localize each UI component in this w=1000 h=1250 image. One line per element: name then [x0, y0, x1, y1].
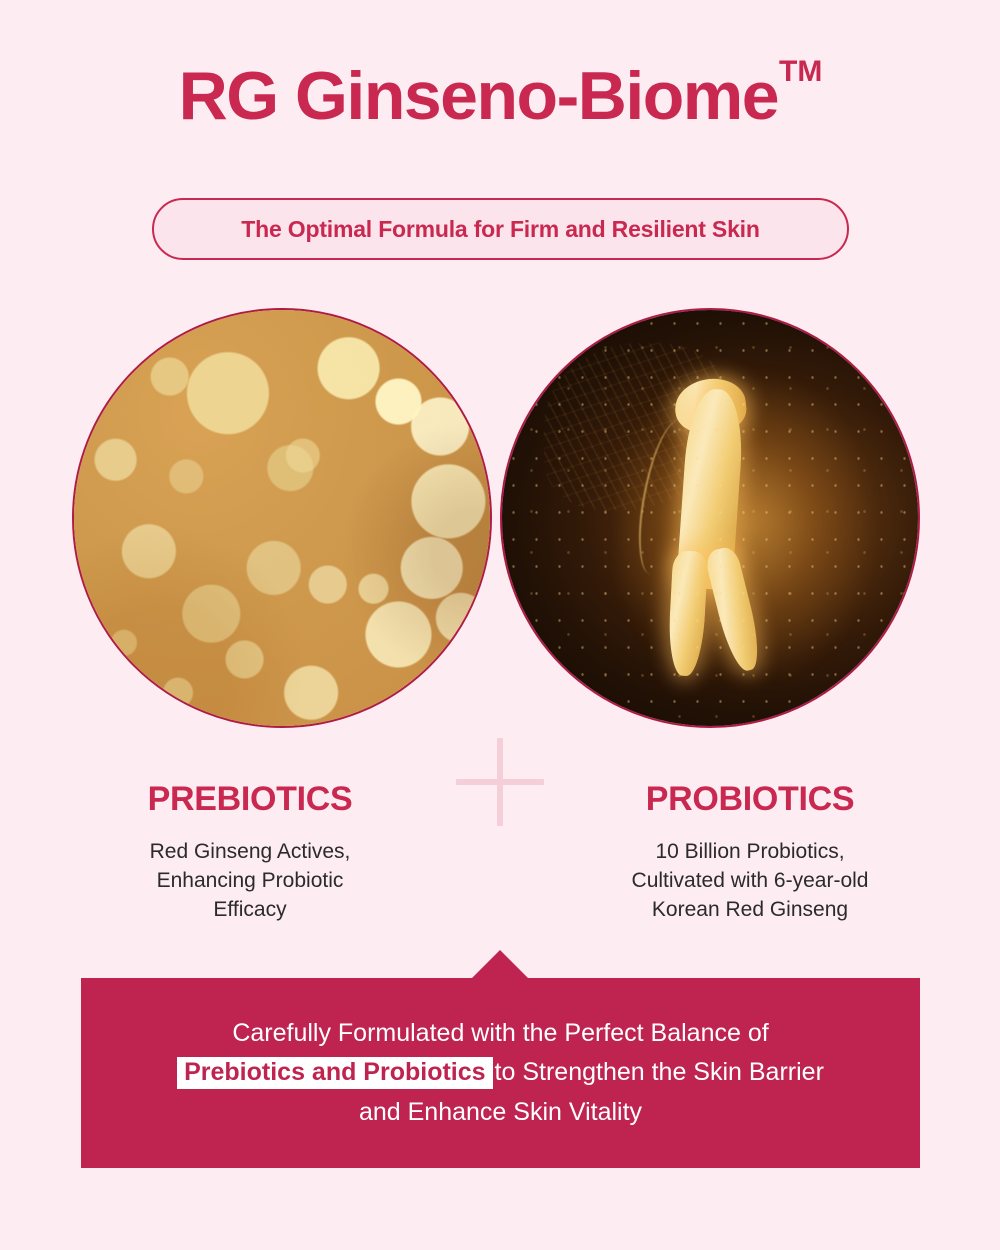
banner-arrow-notch [470, 950, 530, 980]
probiotics-description: 10 Billion Probiotics, Cultivated with 6… [500, 838, 1000, 925]
tagline-badge: The Optimal Formula for Firm and Resilie… [152, 198, 849, 260]
glowing-ginseng-root-image [502, 310, 918, 726]
prebiotics-column: PREBIOTICS Red Ginseng Actives, Enhancin… [0, 782, 500, 925]
summary-line-2: Prebiotics and Probioticsto Strengthen t… [177, 1053, 824, 1093]
ingredient-image-group [0, 308, 1000, 730]
probiotics-heading: PROBIOTICS [500, 782, 1000, 816]
tagline-badge-label: The Optimal Formula for Firm and Resilie… [241, 216, 759, 243]
golden-oil-bubbles-image [74, 310, 490, 726]
page-title-text: RG Ginseno-Biome [179, 58, 778, 134]
prebiotics-image-circle [72, 308, 492, 728]
probiotics-column: PROBIOTICS 10 Billion Probiotics, Cultiv… [500, 782, 1000, 925]
summary-highlight-phrase: Prebiotics and Probiotics [177, 1057, 492, 1089]
summary-banner: Carefully Formulated with the Perfect Ba… [81, 978, 920, 1168]
summary-banner-text: Carefully Formulated with the Perfect Ba… [81, 978, 920, 1168]
particle-speckles [502, 310, 918, 726]
trademark-symbol: TM [779, 55, 822, 88]
product-infographic-page: RG Ginseno-BiomeTM The Optimal Formula f… [0, 0, 1000, 1250]
summary-line-1: Carefully Formulated with the Perfect Ba… [232, 1014, 768, 1054]
plus-icon [456, 738, 544, 826]
summary-line-3: and Enhance Skin Vitality [359, 1093, 642, 1133]
summary-line-2-rest: to Strengthen the Skin Barrier [495, 1058, 824, 1086]
page-title: RG Ginseno-BiomeTM [179, 62, 822, 130]
probiotics-image-circle [500, 308, 920, 728]
prebiotics-heading: PREBIOTICS [0, 782, 500, 816]
prebiotics-description: Red Ginseng Actives, Enhancing Probiotic… [0, 838, 500, 925]
page-title-wrap: RG Ginseno-BiomeTM [0, 62, 1000, 130]
